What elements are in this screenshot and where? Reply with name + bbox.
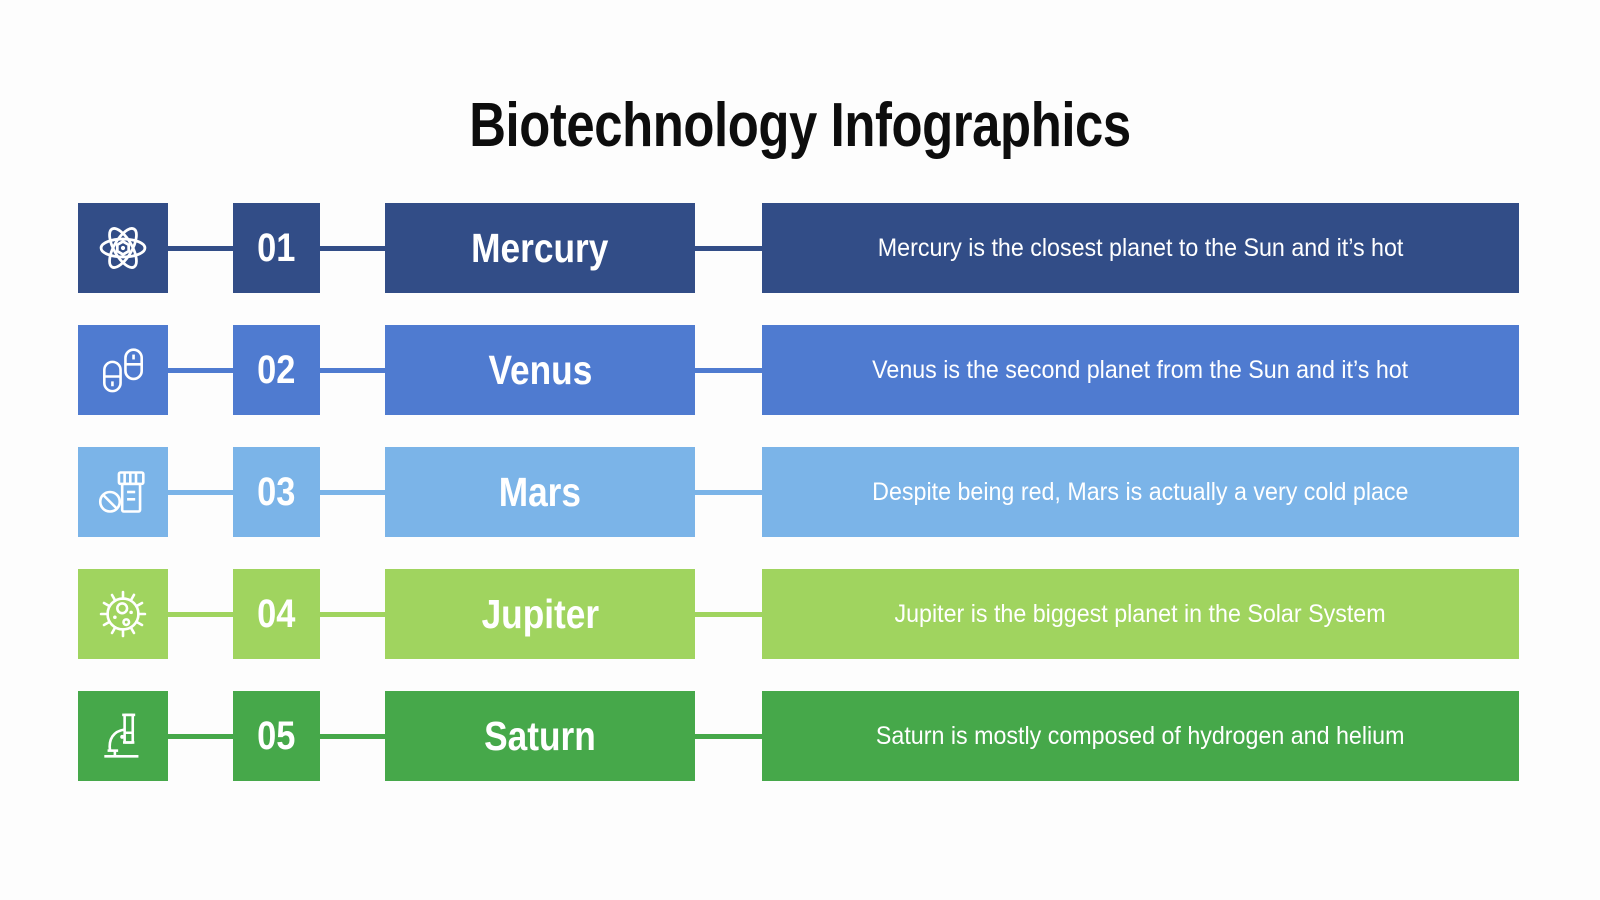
row-number-label: 01	[257, 226, 295, 271]
infographic-row: 01 Mercury Mercury is the closest planet…	[0, 203, 1600, 293]
row-name-tile[interactable]: Mars	[385, 447, 695, 537]
row-name-tile[interactable]: Mercury	[385, 203, 695, 293]
row-description-label: Venus is the second planet from the Sun …	[873, 356, 1409, 385]
row-number-tile[interactable]: 01	[233, 203, 320, 293]
row-number-tile[interactable]: 04	[233, 569, 320, 659]
row-number-label: 03	[257, 470, 295, 515]
row-description-label: Despite being red, Mars is actually a ve…	[872, 478, 1408, 507]
row-number-label: 02	[257, 348, 295, 393]
atom-icon	[97, 222, 149, 274]
infographic-row: 04 Jupiter Jupiter is the biggest planet…	[0, 569, 1600, 659]
capsule-pills-icon	[97, 344, 149, 396]
row-icon-tile[interactable]	[78, 691, 168, 781]
row-number-label: 04	[257, 592, 295, 637]
row-description-label: Saturn is mostly composed of hydrogen an…	[876, 722, 1405, 751]
infographic-row: 02 Venus Venus is the second planet from…	[0, 325, 1600, 415]
infographic-row: 05 Saturn Saturn is mostly composed of h…	[0, 691, 1600, 781]
row-icon-tile[interactable]	[78, 203, 168, 293]
row-description-tile[interactable]: Saturn is mostly composed of hydrogen an…	[762, 691, 1519, 781]
row-name-label: Venus	[488, 347, 592, 394]
infographic-row-list: 01 Mercury Mercury is the closest planet…	[0, 203, 1600, 813]
row-description-label: Mercury is the closest planet to the Sun…	[878, 234, 1404, 263]
row-description-tile[interactable]: Mercury is the closest planet to the Sun…	[762, 203, 1519, 293]
row-icon-tile[interactable]	[78, 447, 168, 537]
row-number-label: 05	[257, 714, 295, 759]
row-icon-tile[interactable]	[78, 325, 168, 415]
microscope-icon	[97, 710, 149, 762]
page-title: Biotechnology Infographics	[144, 90, 1456, 161]
row-name-label: Saturn	[484, 713, 596, 760]
row-description-tile[interactable]: Jupiter is the biggest planet in the Sol…	[762, 569, 1519, 659]
row-description-tile[interactable]: Despite being red, Mars is actually a ve…	[762, 447, 1519, 537]
row-name-tile[interactable]: Saturn	[385, 691, 695, 781]
infographic-row: 03 Mars Despite being red, Mars is actua…	[0, 447, 1600, 537]
row-name-tile[interactable]: Venus	[385, 325, 695, 415]
row-name-label: Mars	[499, 469, 581, 516]
virus-cell-icon	[97, 588, 149, 640]
row-description-label: Jupiter is the biggest planet in the Sol…	[895, 600, 1386, 629]
row-icon-tile[interactable]	[78, 569, 168, 659]
row-number-tile[interactable]: 02	[233, 325, 320, 415]
row-number-tile[interactable]: 05	[233, 691, 320, 781]
row-number-tile[interactable]: 03	[233, 447, 320, 537]
row-description-tile[interactable]: Venus is the second planet from the Sun …	[762, 325, 1519, 415]
pill-bottle-icon	[97, 466, 149, 518]
row-name-tile[interactable]: Jupiter	[385, 569, 695, 659]
row-name-label: Mercury	[471, 225, 608, 272]
row-name-label: Jupiter	[481, 591, 599, 638]
